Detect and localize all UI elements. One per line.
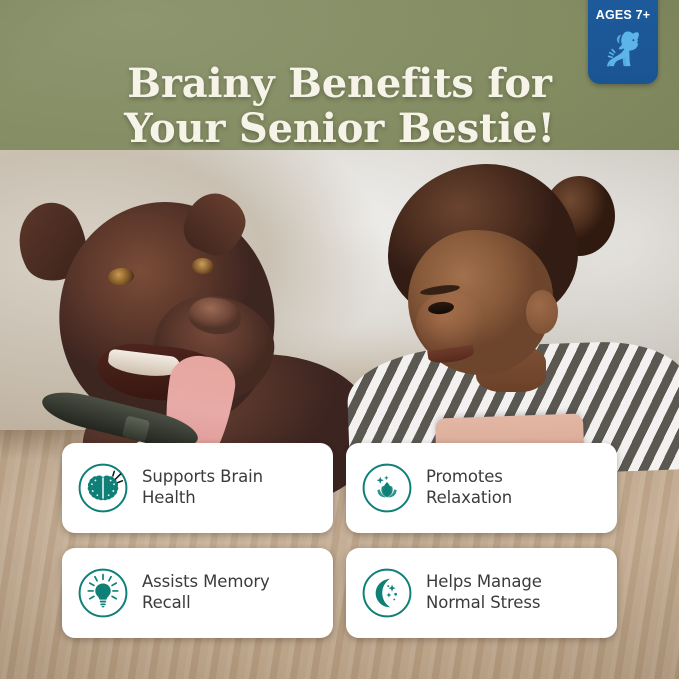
benefit-label-line-1: Assists Memory: [142, 572, 270, 593]
benefit-label-line-1: Helps Manage: [426, 572, 542, 593]
promo-image: Brainy Benefits for Your Senior Bestie! …: [0, 0, 679, 679]
benefit-card-label: Promotes Relaxation: [426, 467, 512, 508]
girl-photo-subject: [358, 160, 679, 460]
headline-line-1: Brainy Benefits for: [0, 62, 679, 107]
benefit-card-label: Helps Manage Normal Stress: [426, 572, 542, 613]
lotus-icon: [360, 461, 414, 515]
benefit-label-line-2: Health: [142, 488, 263, 509]
benefit-card-helps-manage-normal-stress[interactable]: Helps Manage Normal Stress: [346, 548, 617, 638]
ages-badge: AGES 7+: [588, 0, 658, 84]
page-title: Brainy Benefits for Your Senior Bestie!: [0, 62, 679, 152]
benefit-card-assists-memory-recall[interactable]: Assists Memory Recall: [62, 548, 333, 638]
benefit-card-supports-brain-health[interactable]: Supports Brain Health: [62, 443, 333, 533]
benefit-card-label: Assists Memory Recall: [142, 572, 270, 613]
girl-ear: [526, 290, 558, 334]
girl-cheek: [416, 292, 486, 354]
benefit-label-line-1: Supports Brain: [142, 467, 263, 488]
moon-icon: [360, 566, 414, 620]
brain-icon: [76, 461, 130, 515]
benefit-card-promotes-relaxation[interactable]: Promotes Relaxation: [346, 443, 617, 533]
headline-line-2: Your Senior Bestie!: [0, 107, 679, 152]
benefit-cards: Supports Brain Health Promotes Re: [62, 443, 617, 638]
benefit-card-label: Supports Brain Health: [142, 467, 263, 508]
benefit-label-line-2: Recall: [142, 593, 270, 614]
benefit-label-line-1: Promotes: [426, 467, 512, 488]
benefit-label-line-2: Relaxation: [426, 488, 512, 509]
lightbulb-icon: [76, 566, 130, 620]
ages-badge-label: AGES 7+: [596, 8, 651, 22]
benefit-label-line-2: Normal Stress: [426, 593, 542, 614]
dog-icon: [600, 24, 646, 72]
dog-photo-subject: [4, 186, 334, 461]
